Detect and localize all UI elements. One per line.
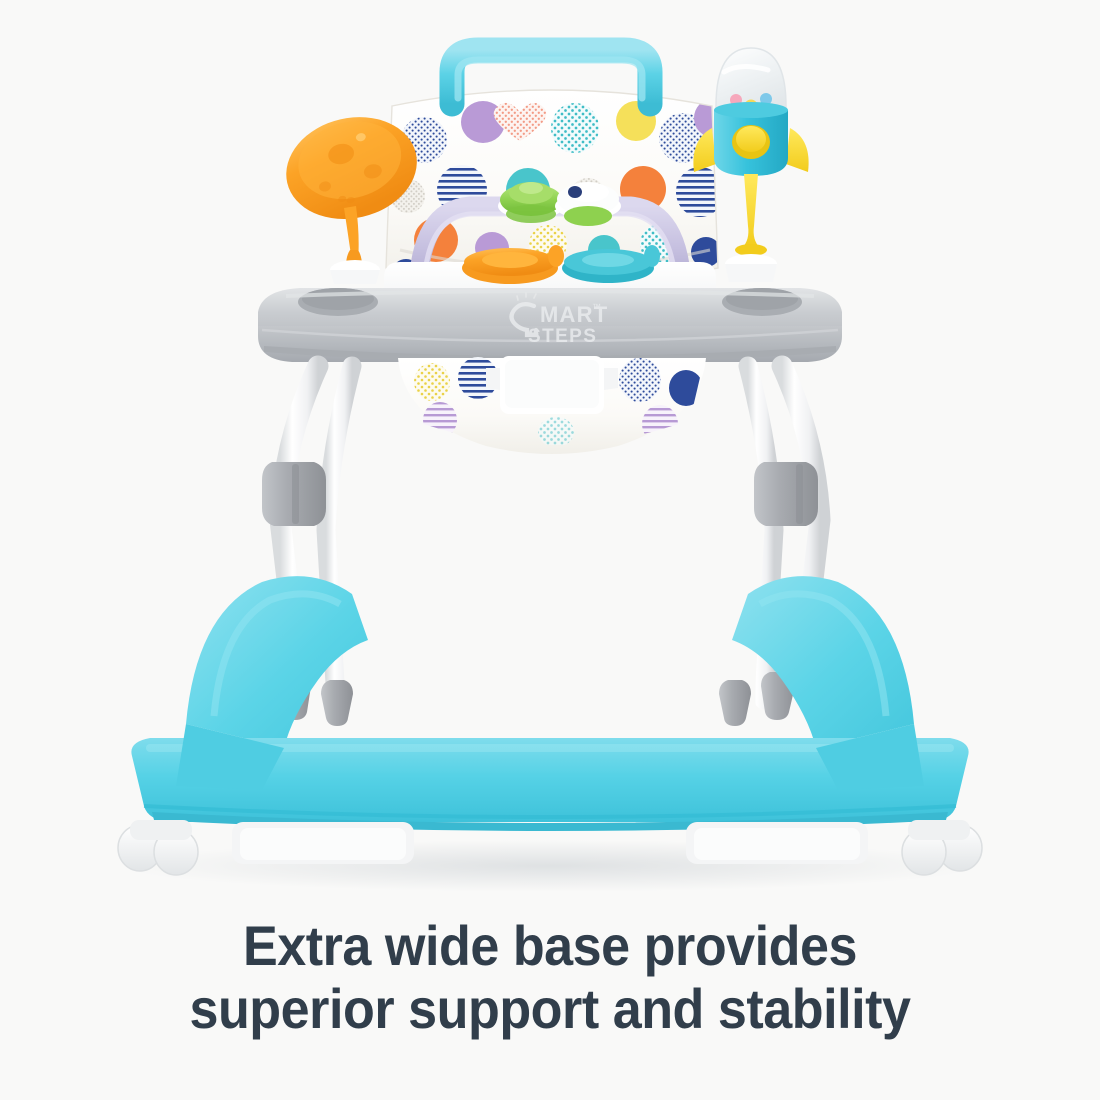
product-image: MART ™ STEPS bbox=[0, 0, 1100, 910]
height-clamp bbox=[262, 462, 818, 526]
leg-ferrule bbox=[277, 672, 795, 726]
seat-bottom bbox=[398, 356, 706, 454]
feature-caption: Extra wide base provides superior suppor… bbox=[39, 915, 1062, 1040]
product-feature-card: MART ™ STEPS bbox=[0, 0, 1100, 1100]
svg-text:™: ™ bbox=[592, 302, 601, 312]
svg-text:STEPS: STEPS bbox=[528, 326, 597, 347]
caption-line-1: Extra wide base provides bbox=[39, 915, 1062, 978]
caption-line-2: superior support and stability bbox=[39, 978, 1062, 1041]
wide-base bbox=[131, 576, 968, 831]
